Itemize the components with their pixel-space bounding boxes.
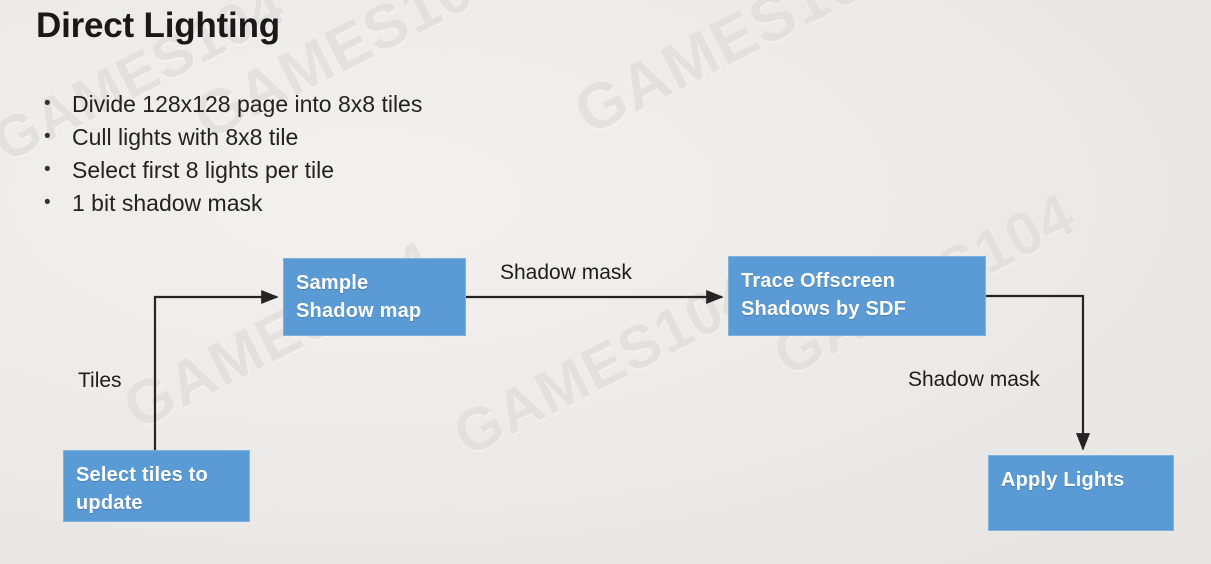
- bullet-item: • 1 bit shadow mask: [44, 187, 744, 219]
- bullet-text: Cull lights with 8x8 tile: [72, 121, 744, 153]
- bullet-text: 1 bit shadow mask: [72, 187, 744, 219]
- slide-canvas: GAMES104 GAMES104 GAMES104 GAMES104 GAME…: [0, 0, 1211, 564]
- flow-node-trace-offscreen-shadows[interactable]: Trace Offscreen Shadows by SDF: [728, 256, 986, 336]
- flow-node-line1: Trace Offscreen: [741, 270, 895, 292]
- bullet-marker-icon: •: [44, 121, 72, 153]
- flow-node-line2: Shadow map: [296, 297, 465, 325]
- bullet-item: • Divide 128x128 page into 8x8 tiles: [44, 88, 744, 120]
- edge-select-tiles-to-sample-shadow-map: [155, 297, 277, 450]
- slide-title: Direct Lighting: [36, 6, 280, 46]
- edge-label-tiles: Tiles: [78, 369, 122, 393]
- bullet-text: Select first 8 lights per tile: [72, 154, 744, 186]
- edge-label-shadow-mask-top: Shadow mask: [500, 261, 632, 285]
- bullet-text: Divide 128x128 page into 8x8 tiles: [72, 88, 744, 120]
- edge-label-shadow-mask-right: Shadow mask: [908, 368, 1040, 392]
- flow-node-line1: Select tiles to: [76, 464, 208, 486]
- bullet-item: • Cull lights with 8x8 tile: [44, 121, 744, 153]
- bullet-list: • Divide 128x128 page into 8x8 tiles • C…: [44, 88, 744, 220]
- flow-node-line2: Shadows by SDF: [741, 295, 985, 323]
- flow-node-line1: Sample: [296, 272, 368, 294]
- flow-node-apply-lights[interactable]: Apply Lights: [988, 455, 1174, 531]
- bullet-item: • Select first 8 lights per tile: [44, 154, 744, 186]
- flow-node-select-tiles-to-update[interactable]: Select tiles to update: [63, 450, 250, 522]
- flow-node-line1: Apply Lights: [1001, 469, 1125, 491]
- flow-node-line2: update: [76, 489, 249, 517]
- watermark-text: GAMES104: [442, 259, 766, 469]
- flow-node-sample-shadow-map[interactable]: Sample Shadow map: [283, 258, 466, 336]
- bullet-marker-icon: •: [44, 154, 72, 186]
- bullet-marker-icon: •: [44, 187, 72, 219]
- bullet-marker-icon: •: [44, 88, 72, 120]
